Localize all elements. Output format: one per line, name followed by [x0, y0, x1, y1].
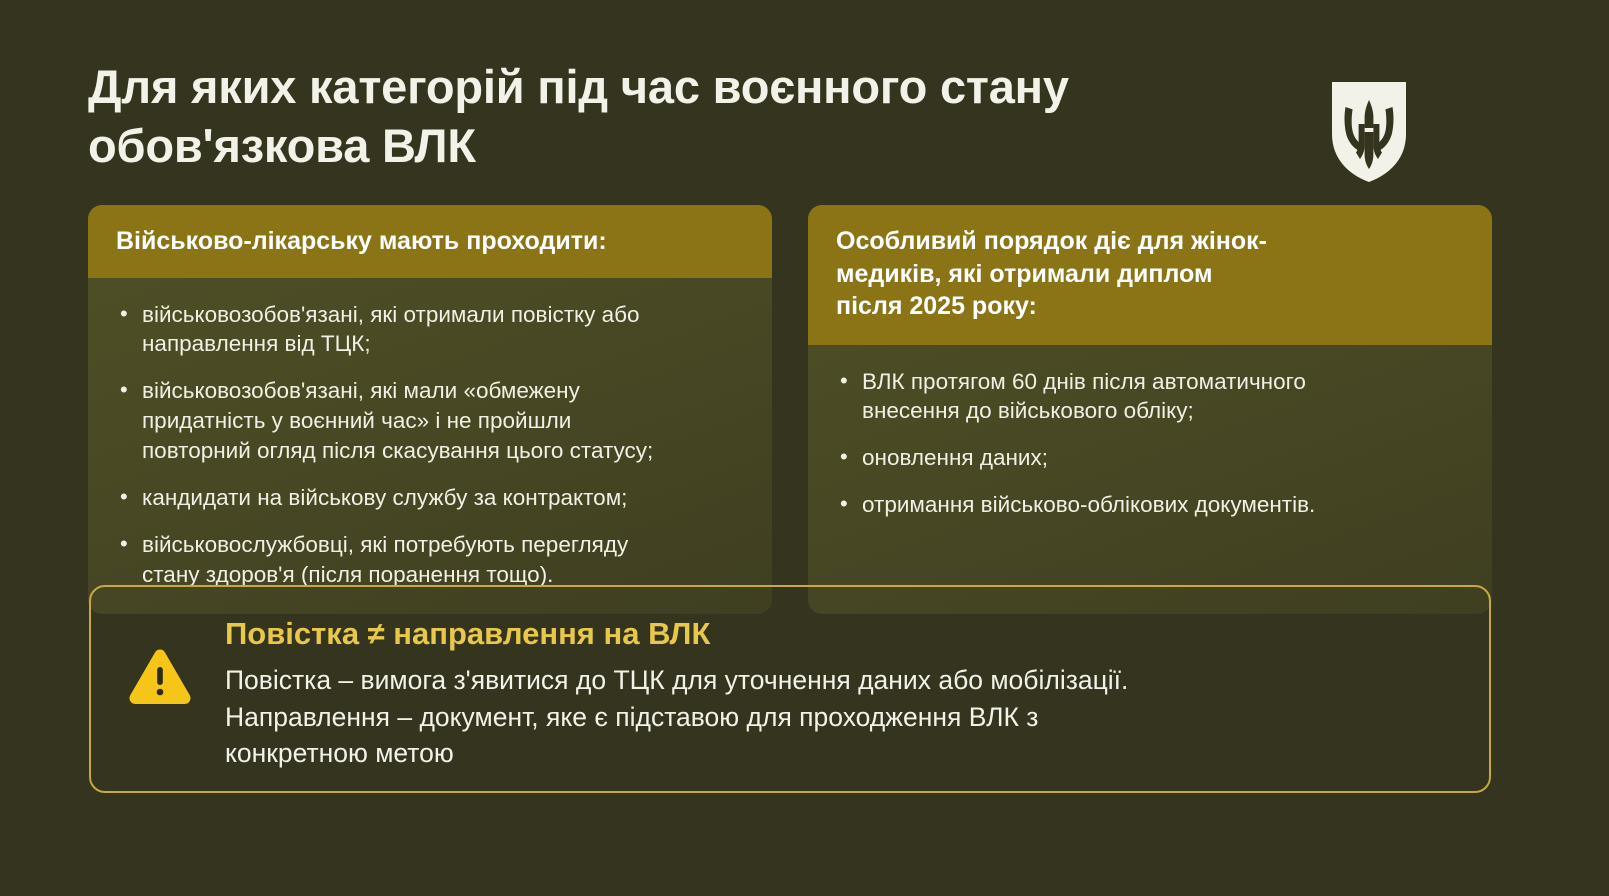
- card-left-body: військовозобов'язані, які отримали повіс…: [88, 278, 772, 614]
- warning-callout: Повістка ≠ направлення на ВЛК Повістка –…: [89, 585, 1491, 793]
- list-item: оновлення даних;: [836, 443, 1464, 473]
- callout-text-block: Повістка ≠ направлення на ВЛК Повістка –…: [225, 615, 1128, 772]
- list-item: ВЛК протягом 60 днів після автоматичного…: [836, 367, 1464, 427]
- ukrainian-trident-shield-icon: [1332, 82, 1406, 187]
- card-left-header: Військово-лікарську мають проходити:: [88, 205, 772, 278]
- list-item: військовозобов'язані, які отримали повіс…: [116, 300, 744, 360]
- page-header: Для яких категорій під час воєнного стан…: [88, 58, 1418, 187]
- card-left-bullet-list: військовозобов'язані, які отримали повіс…: [116, 300, 744, 590]
- card-right-bullet-list: ВЛК протягом 60 днів після автоматичного…: [836, 367, 1464, 521]
- warning-triangle-icon: [129, 649, 191, 710]
- list-item: військовозобов'язані, які мали «обмежену…: [116, 376, 744, 466]
- callout-title: Повістка ≠ направлення на ВЛК: [225, 615, 1128, 652]
- page-title: Для яких категорій під час воєнного стан…: [88, 58, 1069, 176]
- list-item: кандидати на військову службу за контрак…: [116, 483, 744, 513]
- list-item: військовослужбовці, які потребують перег…: [116, 530, 744, 590]
- card-special-order-women-medics: Особливий порядок діє для жінок- медиків…: [808, 205, 1492, 614]
- list-item: отримання військово-облікових документів…: [836, 490, 1464, 520]
- card-right-body: ВЛК протягом 60 днів після автоматичного…: [808, 345, 1492, 614]
- card-right-header: Особливий порядок діє для жінок- медиків…: [808, 205, 1492, 345]
- card-military-medical-commission: Військово-лікарську мають проходити: вій…: [88, 205, 772, 614]
- callout-body: Повістка – вимога з'явитися до ТЦК для у…: [225, 662, 1128, 772]
- cards-row: Військово-лікарську мають проходити: вій…: [88, 205, 1493, 614]
